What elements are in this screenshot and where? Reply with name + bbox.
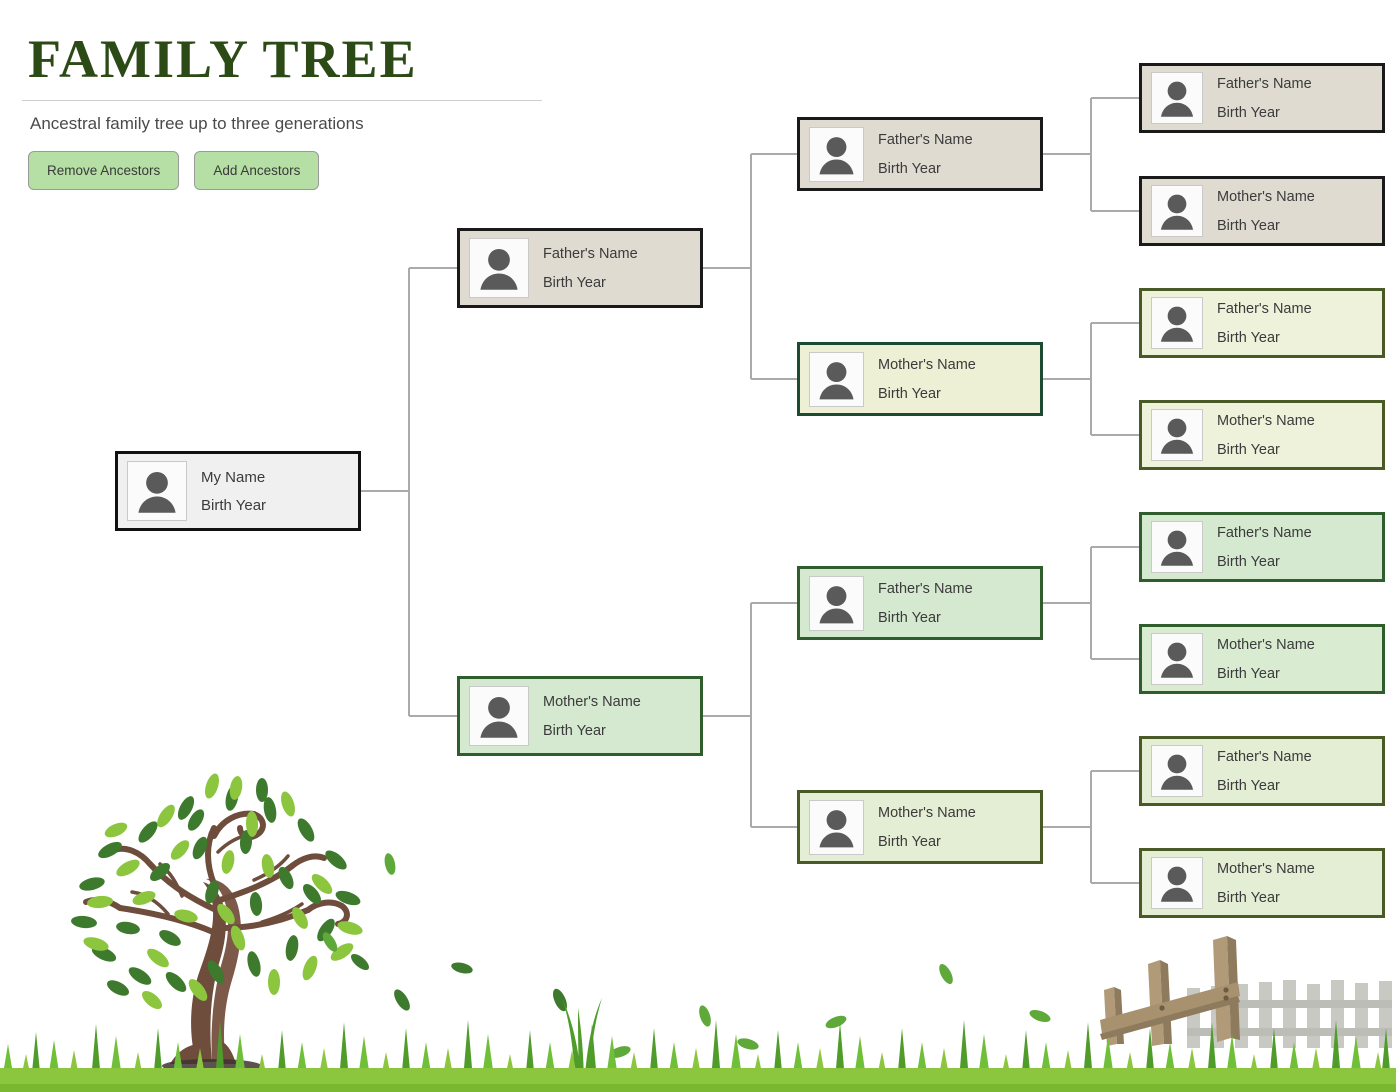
person-info: Mother's Name Birth Year: [1217, 413, 1315, 458]
avatar: [809, 576, 864, 631]
person-card-self[interactable]: My Name Birth Year: [115, 451, 361, 531]
person-name: Mother's Name: [543, 694, 641, 710]
person-info: Mother's Name Birth Year: [1217, 637, 1315, 682]
person-card-father[interactable]: Father's Name Birth Year: [457, 228, 703, 308]
person-name: Father's Name: [878, 581, 973, 597]
person-name: Mother's Name: [1217, 861, 1315, 877]
person-card-great-grandmother-4[interactable]: Mother's Name Birth Year: [1139, 848, 1385, 918]
person-name: Mother's Name: [878, 805, 976, 821]
avatar: [809, 127, 864, 182]
person-birth-year: Birth Year: [878, 386, 976, 402]
avatar: [809, 352, 864, 407]
person-birth-year: Birth Year: [1217, 554, 1312, 570]
person-birth-year: Birth Year: [1217, 778, 1312, 794]
avatar: [1151, 857, 1203, 909]
person-name: Mother's Name: [1217, 413, 1315, 429]
avatar: [809, 800, 864, 855]
avatar: [1151, 297, 1203, 349]
person-info: Father's Name Birth Year: [878, 132, 973, 177]
avatar: [1151, 72, 1203, 124]
avatar: [1151, 409, 1203, 461]
person-birth-year: Birth Year: [1217, 330, 1312, 346]
person-name: Father's Name: [1217, 749, 1312, 765]
grass-strip: [0, 998, 1396, 1092]
person-info: Mother's Name Birth Year: [878, 357, 976, 402]
avatar: [469, 238, 529, 298]
person-name: Father's Name: [878, 132, 973, 148]
person-card-great-grandfather-2[interactable]: Father's Name Birth Year: [1139, 288, 1385, 358]
person-card-paternal-grandmother[interactable]: Mother's Name Birth Year: [797, 342, 1043, 416]
person-birth-year: Birth Year: [543, 723, 641, 739]
avatar: [1151, 521, 1203, 573]
person-card-great-grandfather-4[interactable]: Father's Name Birth Year: [1139, 736, 1385, 806]
person-info: Father's Name Birth Year: [543, 246, 638, 291]
person-card-paternal-grandfather[interactable]: Father's Name Birth Year: [797, 117, 1043, 191]
person-info: Father's Name Birth Year: [1217, 525, 1312, 570]
person-card-maternal-grandmother[interactable]: Mother's Name Birth Year: [797, 790, 1043, 864]
person-card-mother[interactable]: Mother's Name Birth Year: [457, 676, 703, 756]
avatar: [1151, 633, 1203, 685]
person-birth-year: Birth Year: [1217, 105, 1312, 121]
avatar: [1151, 185, 1203, 237]
person-info: Father's Name Birth Year: [1217, 749, 1312, 794]
person-name: Father's Name: [1217, 76, 1312, 92]
person-birth-year: Birth Year: [1217, 666, 1315, 682]
person-birth-year: Birth Year: [1217, 890, 1315, 906]
avatar: [469, 686, 529, 746]
person-card-maternal-grandfather[interactable]: Father's Name Birth Year: [797, 566, 1043, 640]
family-tree-chart: My Name Birth Year Father's Name Birth Y…: [0, 0, 1396, 960]
person-card-great-grandmother-1[interactable]: Mother's Name Birth Year: [1139, 176, 1385, 246]
person-info: Mother's Name Birth Year: [543, 694, 641, 739]
person-info: Father's Name Birth Year: [1217, 76, 1312, 121]
person-info: Mother's Name Birth Year: [1217, 189, 1315, 234]
person-info: Mother's Name Birth Year: [878, 805, 976, 850]
person-name: Father's Name: [1217, 525, 1312, 541]
person-card-great-grandfather-1[interactable]: Father's Name Birth Year: [1139, 63, 1385, 133]
avatar: [127, 461, 187, 521]
person-birth-year: Birth Year: [201, 497, 266, 514]
person-name: Mother's Name: [878, 357, 976, 373]
person-name: Mother's Name: [1217, 189, 1315, 205]
person-name: Father's Name: [1217, 301, 1312, 317]
person-birth-year: Birth Year: [543, 275, 638, 291]
person-card-great-grandfather-3[interactable]: Father's Name Birth Year: [1139, 512, 1385, 582]
person-birth-year: Birth Year: [878, 610, 973, 626]
person-birth-year: Birth Year: [1217, 442, 1315, 458]
person-info: Mother's Name Birth Year: [1217, 861, 1315, 906]
person-info: Father's Name Birth Year: [1217, 301, 1312, 346]
person-info: My Name Birth Year: [201, 469, 266, 514]
avatar: [1151, 745, 1203, 797]
person-birth-year: Birth Year: [1217, 218, 1315, 234]
person-name: Mother's Name: [1217, 637, 1315, 653]
person-card-great-grandmother-3[interactable]: Mother's Name Birth Year: [1139, 624, 1385, 694]
person-info: Father's Name Birth Year: [878, 581, 973, 626]
person-birth-year: Birth Year: [878, 834, 976, 850]
person-name: Father's Name: [543, 246, 638, 262]
person-name: My Name: [201, 469, 266, 486]
person-card-great-grandmother-2[interactable]: Mother's Name Birth Year: [1139, 400, 1385, 470]
person-birth-year: Birth Year: [878, 161, 973, 177]
